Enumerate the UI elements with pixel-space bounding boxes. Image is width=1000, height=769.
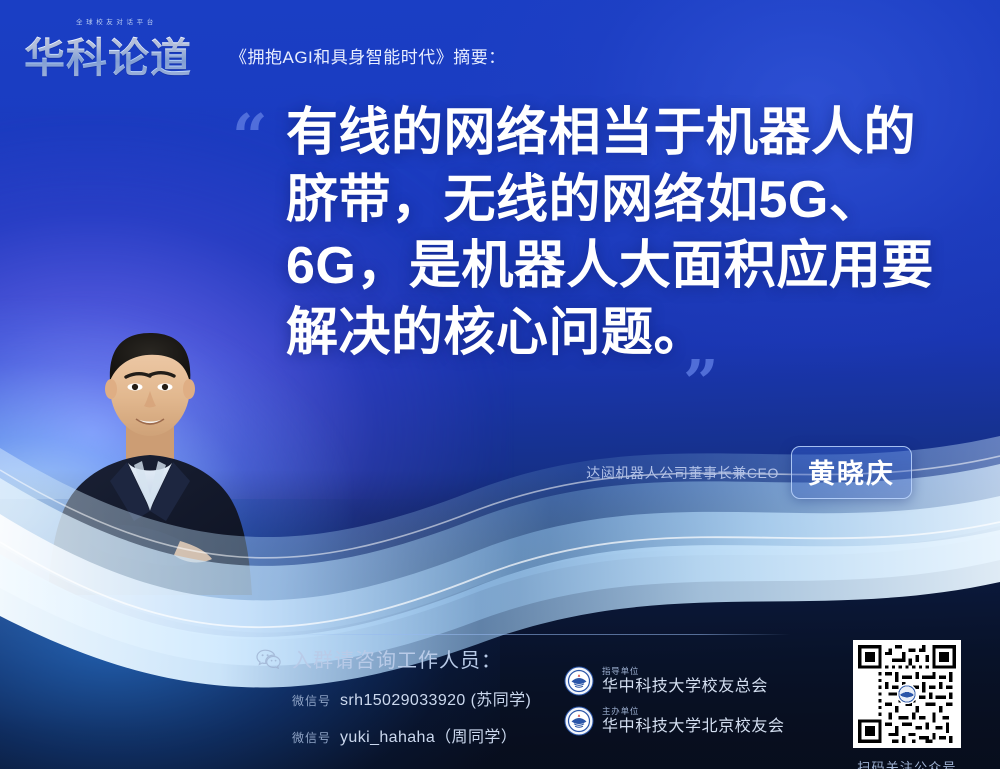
contact-value[interactable]: yuki_hahaha（周同学） <box>340 723 517 747</box>
organization-kind: 主办单位 <box>602 707 785 716</box>
contact-label: 微信号 <box>292 692 331 709</box>
speaker-name-badge: 黄晓庆 <box>791 446 912 499</box>
contact-value[interactable]: srh15029033920 (苏同学) <box>340 686 531 710</box>
quote-close-icon: ” <box>683 352 719 414</box>
contact-heading: 入群请咨询工作人员： <box>292 644 502 673</box>
speaker-attribution: 达闼机器人公司董事长兼CEO 黄晓庆 <box>586 446 912 499</box>
poster-header: 全球校友对话平台 华科论道 《拥抱AGI和具身智能时代》摘要： <box>24 14 506 76</box>
quote-line: 6G，是机器人大面积应用要 <box>286 233 968 300</box>
page-title: 《拥抱AGI和具身智能时代》摘要： <box>230 43 506 68</box>
quote-open-icon: “ <box>232 106 268 168</box>
qr-code-icon[interactable] <box>853 640 961 748</box>
speaker-role: 达闼机器人公司董事长兼CEO <box>586 463 779 483</box>
organization-row: 主办单位 华中科技大学北京校友会 <box>564 706 785 736</box>
quote-line: 解决的核心问题。 <box>286 300 968 367</box>
organization-row: 指导单位 华中科技大学校友总会 <box>564 666 785 696</box>
organizations-block: 指导单位 华中科技大学校友总会 主办单位 <box>564 666 785 746</box>
qr-caption: 扫码关注公众号 <box>832 757 982 769</box>
university-seal-icon <box>564 666 594 696</box>
organization-name: 华中科技大学校友总会 <box>602 678 768 696</box>
wechat-icon <box>256 649 282 669</box>
contact-label: 微信号 <box>292 729 331 746</box>
qr-code-block: 扫码关注公众号 <box>832 640 982 769</box>
organization-kind: 指导单位 <box>602 667 768 676</box>
quote-text: 有线的网络相当于机器人的 脐带，无线的网络如5G、 6G，是机器人大面积应用要 … <box>286 100 968 366</box>
poster-canvas: 全球校友对话平台 华科论道 《拥抱AGI和具身智能时代》摘要： “ 有线的网络相… <box>0 0 1000 769</box>
brand-logo: 全球校友对话平台 华科论道 <box>24 14 216 76</box>
footer-divider <box>290 634 790 635</box>
quote-line: 有线的网络相当于机器人的 <box>286 100 968 167</box>
organization-name: 华中科技大学北京校友会 <box>602 718 785 736</box>
organization-text: 指导单位 华中科技大学校友总会 <box>602 667 768 696</box>
organization-text: 主办单位 华中科技大学北京校友会 <box>602 707 785 736</box>
university-seal-icon <box>564 706 594 736</box>
quote-line: 脐带，无线的网络如5G、 <box>286 167 968 234</box>
quote-block: “ 有线的网络相当于机器人的 脐带，无线的网络如5G、 6G，是机器人大面积应用… <box>228 100 968 366</box>
brand-wordmark: 华科论道 <box>24 24 192 84</box>
